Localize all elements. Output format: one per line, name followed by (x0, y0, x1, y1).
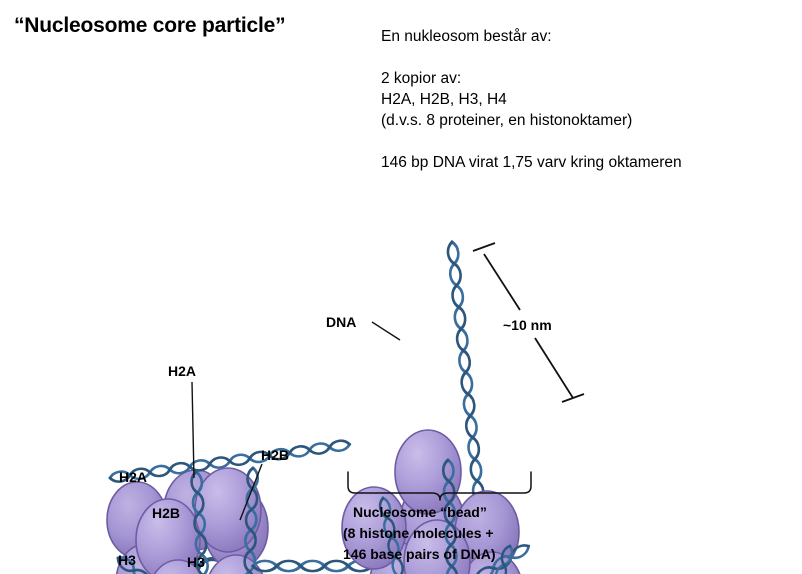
dna-label-leader (372, 322, 400, 340)
label-h3-right: H3 (187, 554, 205, 570)
caption-line-3: 146 base pairs of DNA) (343, 546, 496, 562)
left-nucleosome-group: H2A H2B H2A H2B H3 H3 H4 H4 (74, 363, 351, 574)
spacer (381, 131, 781, 152)
scale-bar-line-upper (484, 254, 520, 310)
label-h2b-outer: H2B (261, 447, 289, 463)
spacer (381, 47, 781, 68)
caption-line-1: Nucleosome “bead” (353, 504, 487, 520)
label-h2b-inner: H2B (152, 505, 180, 521)
scale-bar-cap-bottom (562, 394, 584, 402)
label-h2a-top: H2A (168, 363, 196, 379)
label-scale: ~10 nm (503, 317, 552, 333)
composition-line-1: 2 kopior av: (381, 68, 781, 89)
description-text-block: En nukleosom består av: 2 kopior av: H2A… (381, 26, 781, 173)
intro-line: En nukleosom består av: (381, 26, 781, 47)
nucleosome-diagram: H2A H2B H2A H2B H3 H3 H4 H4 Linker DNA (0, 210, 802, 574)
scale-bar-group: ~10 nm (473, 243, 584, 402)
composition-line-2: H2A, H2B, H3, H4 (381, 89, 781, 110)
composition-line-3: (d.v.s. 8 proteiner, en histonoktamer) (381, 110, 781, 131)
scale-bar-cap-top (473, 243, 495, 251)
dna-note-line: 146 bp DNA virat 1,75 varv kring oktamer… (381, 152, 781, 173)
label-h2a-outer: H2A (119, 469, 147, 485)
label-h3-left: H3 (118, 552, 136, 568)
scale-bar-line-lower (535, 338, 573, 398)
caption-line-2: (8 histone molecules + (343, 525, 494, 541)
label-dna: DNA (326, 314, 356, 330)
page-title: “Nucleosome core particle” (14, 14, 285, 38)
right-nucleosome-group: DNA ~10 nm Nucleosome “bead” (8 histone … (326, 241, 584, 574)
